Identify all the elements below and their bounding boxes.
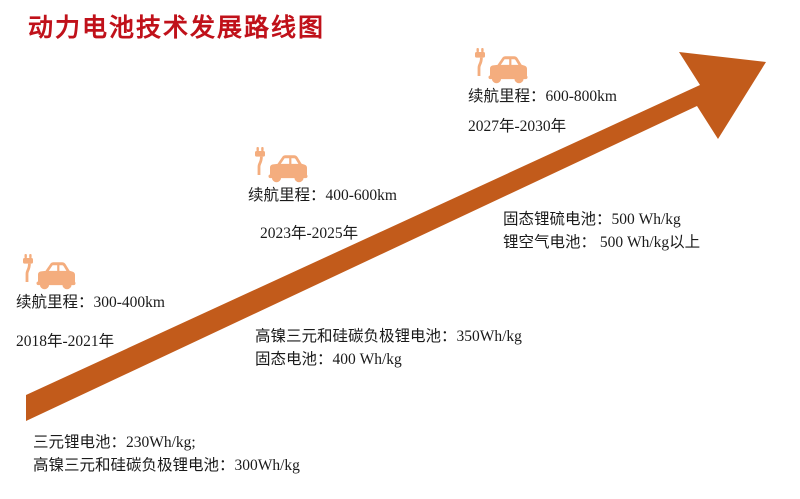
ev-car-icon (468, 46, 530, 84)
milestone-2023-2025: 续航里程：400-600km 2023年-2025年 (248, 145, 397, 246)
specs-middle: 高镍三元和硅碳负极锂电池：350Wh/kg 固态电池：400 Wh/kg (255, 325, 522, 372)
spec-line: 固态锂硫电池：500 Wh/kg (503, 208, 700, 231)
specs-bottom-left: 三元锂电池：230Wh/kg; 高镍三元和硅碳负极锂电池：300Wh/kg (33, 431, 300, 478)
milestone-years-label: 2027年-2030年 (468, 115, 617, 139)
spec-line: 固态电池：400 Wh/kg (255, 348, 522, 371)
milestone-2027-2030: 续航里程：600-800km 2027年-2030年 (468, 46, 617, 139)
spec-line: 高镍三元和硅碳负极锂电池：300Wh/kg (33, 454, 300, 477)
spec-line: 三元锂电池：230Wh/kg; (33, 431, 300, 454)
milestone-years-label: 2023年-2025年 (248, 222, 397, 246)
milestone-range-label: 续航里程：400-600km (248, 184, 397, 208)
ev-car-icon (16, 252, 78, 290)
specs-upper-right: 固态锂硫电池：500 Wh/kg 锂空气电池： 500 Wh/kg以上 (503, 208, 700, 255)
ev-car-icon (248, 145, 310, 183)
spec-line: 高镍三元和硅碳负极锂电池：350Wh/kg (255, 325, 522, 348)
milestone-years-label: 2018年-2021年 (16, 330, 165, 354)
spec-line: 锂空气电池： 500 Wh/kg以上 (503, 231, 700, 254)
roadmap-canvas: 动力电池技术发展路线图 续航里程：300-400km 2018年-2021年 (0, 0, 800, 499)
milestone-range-label: 续航里程：300-400km (16, 291, 165, 315)
milestone-range-label: 续航里程：600-800km (468, 85, 617, 109)
milestone-2018-2021: 续航里程：300-400km 2018年-2021年 (16, 252, 165, 354)
